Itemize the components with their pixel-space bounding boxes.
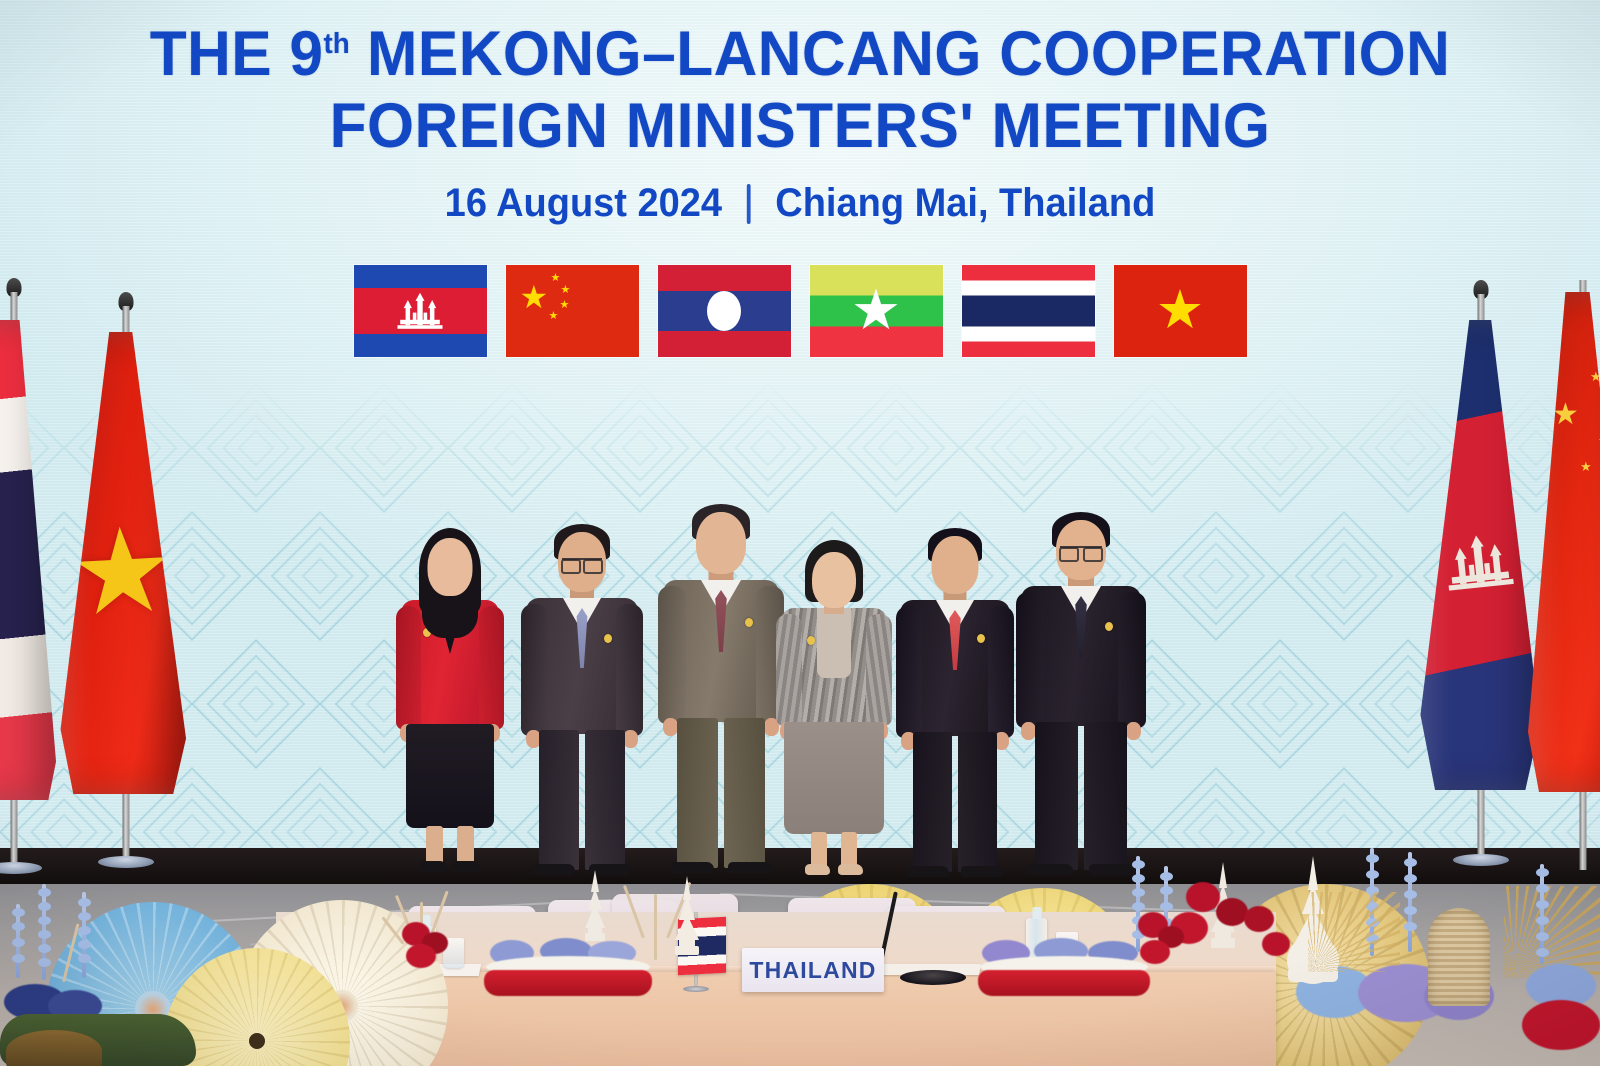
leg-right	[958, 732, 997, 872]
umbrella-hub	[249, 1033, 265, 1049]
title-rest: MEKONG–LANCANG COOPERATION	[350, 19, 1451, 89]
shoe-right	[728, 862, 771, 873]
leg-left	[1035, 722, 1078, 870]
arm-left	[521, 604, 548, 736]
pagoda-model-1	[582, 870, 608, 946]
rose-cluster-left	[400, 918, 452, 974]
event-title-block: THE 9th MEKONG–LANCANG COOPERATION FOREI…	[0, 22, 1600, 226]
head	[812, 552, 856, 608]
flag-cambodia	[354, 265, 487, 357]
delegate-6	[1018, 512, 1144, 880]
lapel-pin-icon	[977, 634, 985, 643]
shoe-left	[907, 866, 949, 877]
shoe-left	[1028, 864, 1073, 875]
angkor-wat-icon	[1437, 531, 1521, 597]
flag-myanmar: ★	[810, 265, 943, 357]
cambodia-flag-cloth	[1418, 320, 1540, 790]
head	[428, 538, 473, 596]
leg-left	[426, 826, 443, 866]
floral-cluster-far-right	[1520, 854, 1600, 1066]
pole-flag-cambodia	[1420, 294, 1542, 860]
shoe-right	[961, 866, 1003, 877]
star-small-3-icon: ★	[560, 300, 570, 311]
member-flag-strip: ★ ★ ★ ★ ★ ★ ★	[0, 265, 1600, 357]
arm-right	[988, 606, 1014, 738]
pole-flag-thailand	[0, 292, 62, 868]
leg-left	[539, 730, 579, 870]
shoe-right	[838, 864, 863, 875]
event-date: 16 August 2024	[445, 181, 722, 226]
skirt	[784, 722, 884, 834]
star-small-4-icon: ★	[549, 311, 559, 322]
delegate-2	[523, 524, 641, 880]
legs	[536, 730, 628, 880]
flag-stand-base	[98, 856, 154, 868]
shoe-right	[453, 861, 480, 872]
glasses-icon	[1060, 546, 1102, 548]
necktie	[947, 610, 963, 670]
lapel-pin-icon	[807, 636, 815, 645]
vietnam-flag-cloth: ★	[58, 332, 186, 794]
title-line-2: FOREIGN MINISTERS' MEETING	[32, 94, 1568, 160]
leg-right	[724, 718, 765, 868]
arm-right	[616, 604, 643, 736]
lapel-pin-icon	[604, 634, 612, 643]
flag-china: ★ ★ ★ ★ ★	[506, 265, 639, 357]
star-large-icon: ★	[1552, 400, 1579, 430]
event-location: Chiang Mai, Thailand	[775, 181, 1155, 226]
flag-laos	[658, 265, 791, 357]
pole-flag-china: ★ ★ ★ ★ ★	[1528, 280, 1600, 870]
conference-photo-stage: THE 9th MEKONG–LANCANG COOPERATION FOREI…	[0, 0, 1600, 1066]
skirt	[406, 724, 494, 828]
necktie	[713, 590, 729, 652]
star-small-1-icon: ★	[551, 273, 561, 284]
arm-right	[1118, 592, 1146, 728]
lapel-pin-icon	[745, 618, 753, 627]
head	[696, 512, 746, 574]
desk-flag-base	[683, 986, 709, 992]
arm-left	[658, 586, 686, 724]
shoe-left	[533, 864, 575, 875]
star-small-2-icon: ★	[561, 285, 571, 296]
arm-left	[1016, 592, 1044, 728]
country-nameplate: THAILAND	[742, 948, 884, 992]
rose-cluster-right	[1136, 910, 1188, 970]
necktie	[1073, 596, 1089, 658]
star-small-1-icon: ★	[1590, 370, 1600, 383]
flag-vietnam: ★	[1114, 265, 1247, 357]
leg-right	[841, 832, 857, 868]
event-subtitle: 16 August 2024 Chiang Mai, Thailand	[40, 181, 1560, 226]
microphone-base	[900, 970, 966, 985]
legs	[805, 832, 863, 874]
woven-bamboo-lantern	[1428, 908, 1490, 1006]
title-ordinal-suffix: th	[324, 28, 350, 60]
pole-flag-vietnam: ★	[62, 306, 190, 862]
delegate-5	[898, 528, 1012, 880]
vietnam-star-icon: ★	[1156, 283, 1204, 337]
glasses-icon	[562, 558, 602, 560]
title-prefix: THE 9	[150, 19, 324, 89]
delegate-3	[660, 504, 782, 880]
necktie	[575, 608, 590, 668]
subtitle-divider-icon	[747, 184, 751, 224]
head	[932, 536, 979, 594]
leg-left	[913, 732, 952, 872]
star-large-icon: ★	[520, 281, 549, 313]
star-small-4-icon: ★	[1580, 460, 1592, 473]
pagoda-model-2	[672, 876, 702, 960]
head	[1056, 520, 1106, 580]
inner-top	[817, 608, 851, 678]
woven-basket	[6, 1030, 102, 1066]
arm-right	[866, 614, 892, 726]
arm-left	[396, 606, 421, 730]
leg-right	[585, 730, 625, 870]
gold-fan-leaf-2	[1308, 892, 1400, 972]
delegate-4	[778, 540, 890, 872]
leg-left	[677, 718, 718, 868]
legs	[910, 732, 1000, 882]
arm-left	[776, 614, 802, 726]
myanmar-star-icon: ★	[851, 282, 901, 338]
laos-white-disc-icon	[707, 291, 741, 331]
flag-thailand	[962, 265, 1095, 357]
leg-left	[811, 832, 827, 868]
china-flag-cloth: ★ ★ ★ ★ ★	[1528, 292, 1600, 792]
angkor-wat-icon	[393, 293, 447, 333]
floral-cluster-left	[0, 880, 190, 1066]
shoe-left	[805, 864, 830, 875]
title-line-1: THE 9th MEKONG–LANCANG COOPERATION	[32, 22, 1568, 88]
head	[558, 532, 606, 592]
delegate-1	[398, 528, 502, 873]
lapel-pin-icon	[1105, 622, 1113, 631]
arm-right	[479, 606, 504, 730]
thailand-flag-cloth	[0, 320, 56, 800]
arm-left	[896, 606, 922, 738]
vietnam-star-icon: ★	[66, 511, 178, 634]
leg-right	[457, 826, 474, 866]
